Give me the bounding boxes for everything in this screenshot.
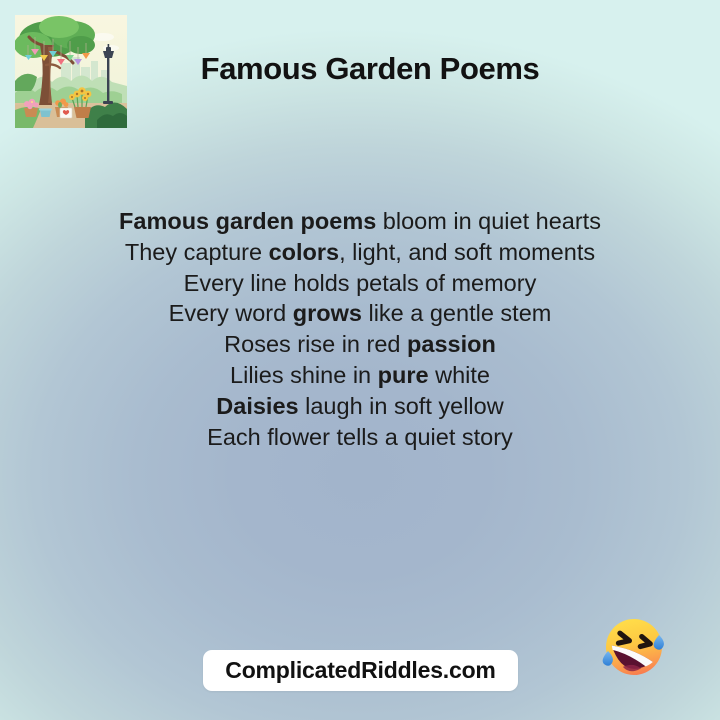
garden-illustration-svg — [15, 15, 127, 128]
rolling-on-the-floor-laughing-icon — [598, 611, 670, 683]
poem-text: like a gentle stem — [362, 300, 551, 326]
poem-line: Daisies laugh in soft yellow — [0, 391, 720, 422]
site-badge-label: ComplicatedRiddles.com — [225, 657, 495, 684]
poem-line: They capture colors, light, and soft mom… — [0, 237, 720, 268]
poster-canvas: Famous Garden Poems Famous garden poems … — [0, 0, 720, 720]
poem-emphasis: pure — [378, 362, 429, 388]
poem-text: bloom in quiet hearts — [376, 208, 601, 234]
poem-emphasis: Daisies — [216, 393, 298, 419]
poem-line: Each flower tells a quiet story — [0, 422, 720, 453]
poem-emphasis: grows — [293, 300, 362, 326]
poem-text: Each flower tells a quiet story — [207, 424, 513, 450]
poem-text: laugh in soft yellow — [299, 393, 504, 419]
poem-text: white — [429, 362, 490, 388]
poem-text-block: Famous garden poems bloom in quiet heart… — [0, 206, 720, 452]
poem-line: Roses rise in red passion — [0, 329, 720, 360]
site-badge[interactable]: ComplicatedRiddles.com — [203, 650, 518, 691]
poem-emphasis: passion — [407, 331, 496, 357]
poem-text: Roses rise in red — [224, 331, 407, 357]
poem-line: Lilies shine in pure white — [0, 360, 720, 391]
poem-text: Every line holds petals of memory — [184, 270, 537, 296]
poem-text: They capture — [125, 239, 269, 265]
poem-text: , light, and soft moments — [339, 239, 595, 265]
poem-emphasis: Famous garden poems — [119, 208, 376, 234]
poem-line: Every word grows like a gentle stem — [0, 298, 720, 329]
poem-line: Every line holds petals of memory — [0, 268, 720, 299]
poem-text: Every word — [169, 300, 293, 326]
garden-thumbnail-image — [15, 15, 127, 128]
poem-emphasis: colors — [269, 239, 340, 265]
rofl-emoji-svg — [598, 611, 670, 683]
page-title: Famous Garden Poems — [160, 50, 580, 87]
poem-text: Lilies shine in — [230, 362, 378, 388]
poem-line: Famous garden poems bloom in quiet heart… — [0, 206, 720, 237]
